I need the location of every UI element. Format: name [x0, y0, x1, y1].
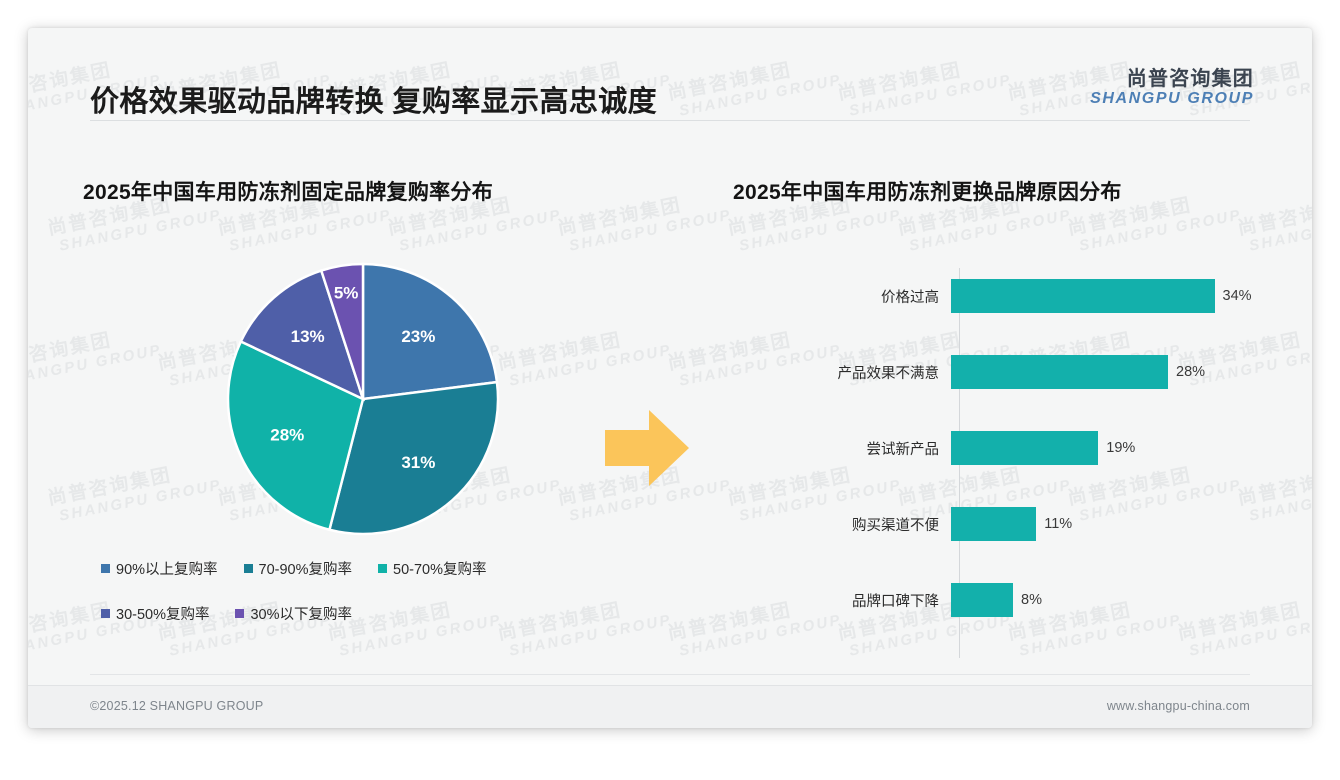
bar-chart-row[interactable]: 品牌口碑下降8% [733, 583, 1278, 617]
bar-category-label: 品牌口碑下降 [733, 590, 951, 611]
left-chart-title: 2025年中国车用防冻剂固定品牌复购率分布 [83, 176, 693, 206]
legend-swatch-icon [378, 564, 387, 573]
bar-category-label: 尝试新产品 [733, 438, 951, 459]
bar-fill[interactable] [951, 507, 1036, 541]
bar-track: 11% [951, 507, 1278, 541]
footer-website[interactable]: www.shangpu-china.com [1107, 699, 1250, 713]
page-title: 价格效果驱动品牌转换 复购率显示高忠诚度 [90, 78, 657, 120]
right-chart-panel: 2025年中国车用防冻剂更换品牌原因分布 价格过高34%产品效果不满意28%尝试… [733, 176, 1278, 676]
bar-value-label: 28% [1176, 364, 1205, 380]
legend-item[interactable]: 30%以下复购率 [235, 603, 352, 624]
right-arrow-icon [601, 406, 693, 495]
legend-swatch-icon [101, 609, 110, 618]
bar-category-label: 产品效果不满意 [733, 362, 951, 383]
legend-swatch-icon [244, 564, 253, 573]
slide-header: 价格效果驱动品牌转换 复购率显示高忠诚度 尚普咨询集团 SHANGPU GROU… [28, 28, 1312, 120]
bar-chart: 价格过高34%产品效果不满意28%尝试新产品19%购买渠道不便11%品牌口碑下降… [733, 268, 1278, 668]
pie-chart-svg: 23%31%28%13%5% [213, 254, 513, 544]
legend-item-label: 90%以上复购率 [116, 558, 218, 579]
arrow-shape [601, 406, 693, 490]
pie-legend: 90%以上复购率70-90%复购率50-70%复购率 30-50%复购率30%以… [101, 558, 681, 648]
bar-value-label: 19% [1106, 440, 1135, 456]
right-chart-title: 2025年中国车用防冻剂更换品牌原因分布 [733, 176, 1278, 206]
legend-item[interactable]: 90%以上复购率 [101, 558, 218, 579]
slide-card: 尚普咨询集团SHANGPU GROUP尚普咨询集团SHANGPU GROUP尚普… [28, 28, 1312, 728]
bar-chart-row[interactable]: 购买渠道不便11% [733, 507, 1278, 541]
bar-value-label: 8% [1021, 592, 1042, 608]
bar-value-label: 34% [1223, 288, 1252, 304]
legend-item-label: 70-90%复购率 [259, 558, 352, 579]
legend-item[interactable]: 70-90%复购率 [244, 558, 352, 579]
bar-track: 34% [951, 279, 1278, 313]
pie-slice-label: 23% [401, 327, 435, 346]
legend-item[interactable]: 30-50%复购率 [101, 603, 209, 624]
legend-row-bottom: 30-50%复购率30%以下复购率 [101, 603, 681, 624]
brand-logo: 尚普咨询集团 SHANGPU GROUP [1090, 68, 1254, 108]
title-divider [90, 120, 1250, 121]
legend-item-label: 30%以下复购率 [250, 603, 352, 624]
legend-swatch-icon [235, 609, 244, 618]
pie-chart: 23%31%28%13%5% [113, 254, 613, 544]
legend-item-label: 30-50%复购率 [116, 603, 209, 624]
bar-category-label: 价格过高 [733, 286, 951, 307]
bar-fill[interactable] [951, 279, 1215, 313]
logo-chinese-text: 尚普咨询集团 [1090, 68, 1254, 90]
bar-track: 28% [951, 355, 1278, 389]
bar-track: 8% [951, 583, 1278, 617]
logo-english-text: SHANGPU GROUP [1090, 90, 1254, 108]
bar-fill[interactable] [951, 583, 1013, 617]
legend-row-top: 90%以上复购率70-90%复购率50-70%复购率 [101, 558, 681, 579]
bar-fill[interactable] [951, 355, 1168, 389]
bar-chart-row[interactable]: 产品效果不满意28% [733, 355, 1278, 389]
bar-category-label: 购买渠道不便 [733, 514, 951, 535]
pie-slice-label: 28% [270, 426, 304, 445]
legend-item[interactable]: 50-70%复购率 [378, 558, 486, 579]
legend-swatch-icon [101, 564, 110, 573]
bar-chart-row[interactable]: 尝试新产品19% [733, 431, 1278, 465]
footnote-divider [90, 674, 1250, 675]
footer-copyright: ©2025.12 SHANGPU GROUP [90, 699, 263, 713]
slide-footer: ©2025.12 SHANGPU GROUP www.shangpu-china… [28, 685, 1312, 728]
bar-fill[interactable] [951, 431, 1098, 465]
bar-chart-row[interactable]: 价格过高34% [733, 279, 1278, 313]
bar-track: 19% [951, 431, 1278, 465]
pie-slice-label: 5% [334, 283, 359, 302]
pie-slice-label: 31% [401, 453, 435, 472]
bar-value-label: 11% [1044, 516, 1072, 532]
legend-item-label: 50-70%复购率 [393, 558, 486, 579]
pie-slice-label: 13% [291, 327, 325, 346]
